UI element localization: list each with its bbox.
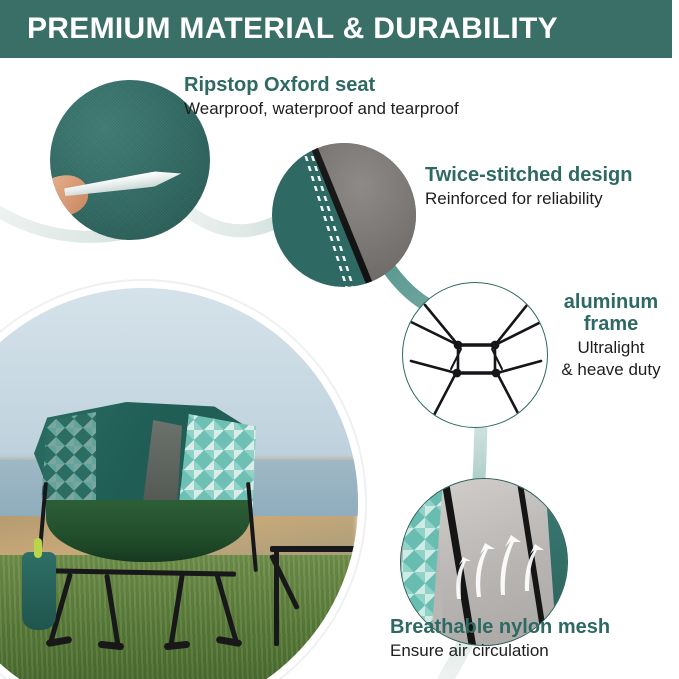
feature-label-ripstop: Ripstop Oxford seat Wearproof, waterproo… [184,74,459,120]
chair-leg [168,574,185,648]
feature-subtitle-line1: Ultralight [548,338,674,358]
infographic-canvas: PREMIUM MATERIAL & DURABILITY [0,0,679,679]
chair-side-arm [270,546,358,552]
chair-storage-pouch [22,552,56,630]
feature-subtitle: Wearproof, waterproof and tearproof [184,99,459,119]
feature-label-frame: aluminum frame Ultralight & heave duty [548,291,674,381]
feature-subtitle: Reinforced for reliability [425,189,632,209]
chair-foot [216,636,243,647]
feature-title: Ripstop Oxford seat [184,74,459,96]
feature-subtitle: Ensure air circulation [390,641,610,661]
aluminum-frame-diagram-circle [402,282,548,428]
chair-foot [98,641,125,651]
feature-label-stitching: Twice-stitched design Reinforced for rel… [425,164,632,210]
feature-title: Breathable nylon mesh [390,616,610,638]
chair-bar [50,568,236,576]
double-stitch-seam-circle [272,143,416,287]
camping-chair [24,402,274,652]
chair-leg [214,573,239,644]
chair-leg [104,574,121,648]
feature-subtitle-line2: & heave duty [548,360,674,380]
feature-title: aluminum frame [548,291,674,336]
feature-title: Twice-stitched design [425,164,632,186]
frame-line-drawing-icon [403,283,548,428]
chair-seat-bottom [46,500,250,562]
pouch-clip-icon [34,538,42,558]
feature-label-mesh: Breathable nylon mesh Ensure air circula… [390,616,610,662]
chair-foot [164,641,191,651]
finger-icon [50,171,92,221]
product-photo [0,288,358,679]
